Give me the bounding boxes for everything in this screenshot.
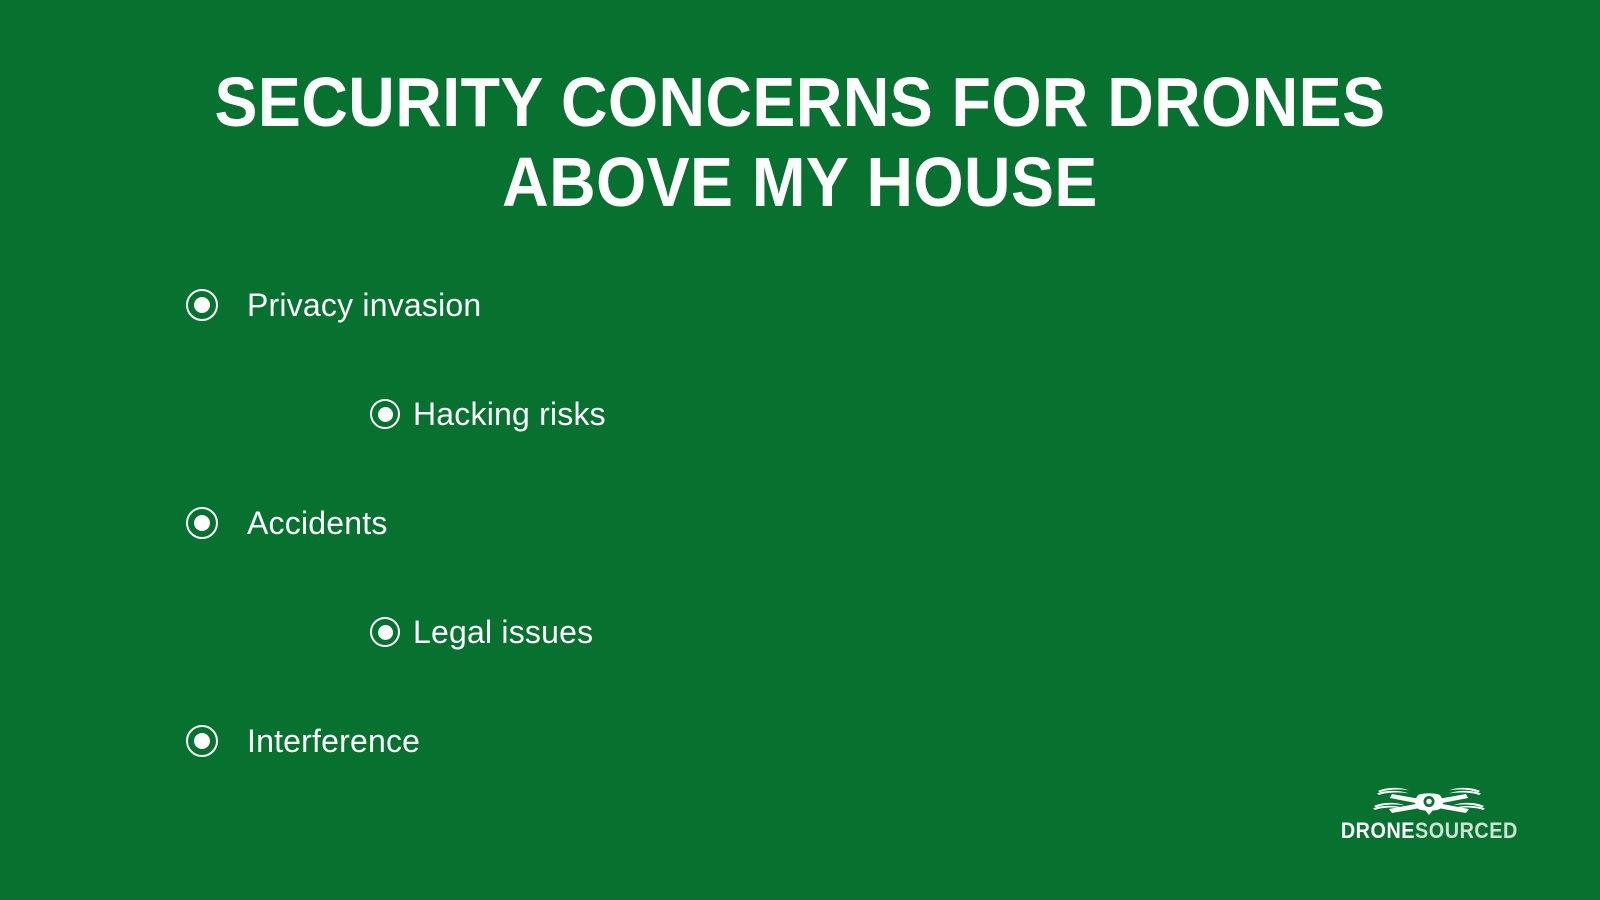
bullet-dot-icon [194,515,210,531]
slide-canvas: SECURITY CONCERNS FOR DRONES ABOVE MY HO… [0,0,1600,900]
list-item: Interference [0,708,1600,774]
ring-dot-bullet-icon [186,507,218,539]
page-title-line-2: ABOVE MY HOUSE [64,142,1536,222]
page-title-line-1: SECURITY CONCERNS FOR DRONES [64,62,1536,142]
bullet-dot-icon [194,733,210,749]
list-item: Hacking risks [0,381,1600,447]
logo-word-drone: DRONE [1341,820,1415,842]
ring-dot-bullet-icon [186,289,218,321]
quadcopter-drone-icon [1369,784,1489,818]
logo-wordmark: DRONESOURCED [1341,820,1518,842]
list-item-label: Accidents [247,507,388,539]
brand-logo: DRONESOURCED [1354,784,1504,842]
list-item-label: Interference [247,725,420,757]
ring-dot-bullet-icon [370,617,400,647]
ring-dot-bullet-icon [186,725,218,757]
bullet-dot-icon [194,297,210,313]
bullet-dot-icon [378,407,393,422]
ring-dot-bullet-icon [370,399,400,429]
bullet-list: Privacy invasion Hacking risks Accidents… [0,272,1600,774]
page-title: SECURITY CONCERNS FOR DRONES ABOVE MY HO… [0,62,1600,222]
list-item-label: Privacy invasion [247,289,481,321]
list-item: Privacy invasion [0,272,1600,338]
bullet-dot-icon [378,625,393,640]
list-item-label: Legal issues [413,616,593,648]
list-item-label: Hacking risks [413,398,606,430]
list-item: Accidents [0,490,1600,556]
list-item: Legal issues [0,599,1600,665]
logo-word-sourced: SOURCED [1415,820,1518,842]
